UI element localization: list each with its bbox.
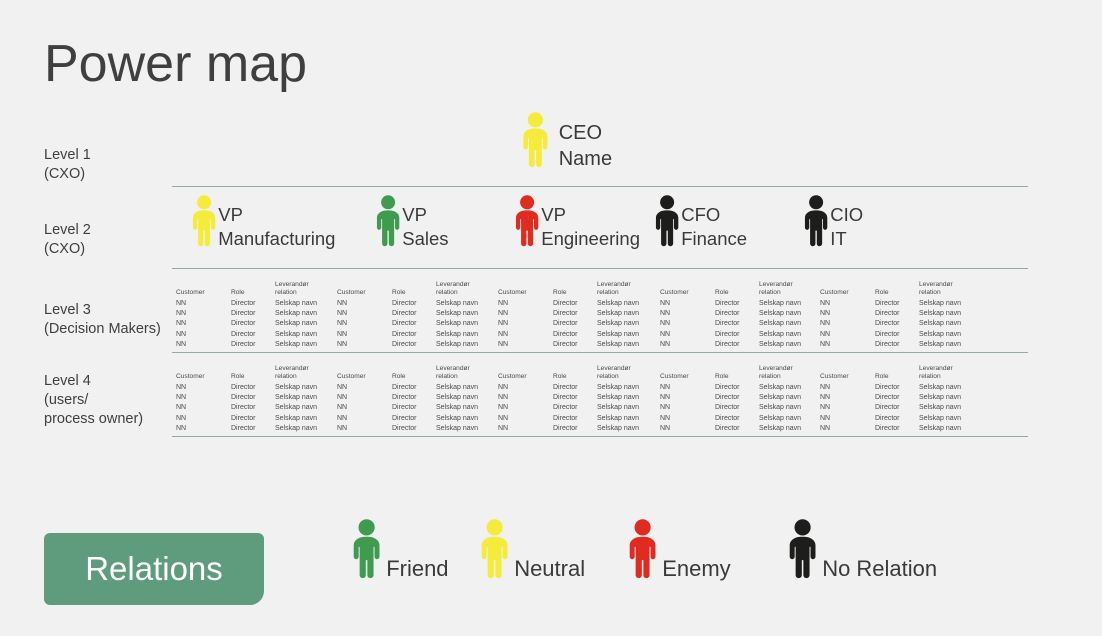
table-header-row: CustomerRoleLeverandør relation	[176, 361, 339, 381]
table-cell: NN	[337, 299, 392, 309]
table-cell: Selskap navn	[275, 330, 339, 340]
table-cell: NN	[660, 330, 715, 340]
table-cell: Selskap navn	[759, 424, 823, 434]
table-cell: NN	[176, 330, 231, 340]
table-row[interactable]: NNDirectorSelskap navn	[660, 330, 823, 340]
table-cell: Director	[231, 403, 275, 413]
table-cell: NN	[498, 383, 553, 393]
table-cell: NN	[498, 340, 553, 350]
table-row[interactable]: NNDirectorSelskap navn	[820, 403, 983, 413]
table-header-row: CustomerRoleLeverandør relation	[337, 361, 500, 381]
person-icon	[651, 195, 683, 252]
table-cell: Director	[553, 299, 597, 309]
table-cell: NN	[337, 424, 392, 434]
table-row[interactable]: NNDirectorSelskap navn	[660, 299, 823, 309]
table-cell: Selskap navn	[597, 299, 661, 309]
legend-item-enemy[interactable]: Enemy	[624, 519, 731, 584]
level-label-2: Level 2 (CXO)	[44, 221, 91, 259]
table-cell: Director	[715, 414, 759, 424]
table-cell: Selskap navn	[436, 403, 500, 413]
table-row[interactable]: NNDirectorSelskap navn	[176, 299, 339, 309]
table-cell: Director	[231, 319, 275, 329]
table-group-level-3-4: CustomerRoleLeverandør relationNNDirecto…	[660, 277, 823, 350]
table-row[interactable]: NNDirectorSelskap navn	[337, 330, 500, 340]
table-row[interactable]: NNDirectorSelskap navn	[176, 330, 339, 340]
table-cell: Selskap navn	[597, 403, 661, 413]
table-cell: NN	[498, 403, 553, 413]
power-map-slide: Power map Level 1 (CXO) Level 2 (CXO) Le…	[0, 0, 1102, 636]
table-cell: Selskap navn	[919, 424, 983, 434]
table-header-cell: Leverandør relation	[759, 365, 823, 381]
legend-item-no-relation[interactable]: No Relation	[784, 519, 937, 584]
table-row[interactable]: NNDirectorSelskap navn	[660, 309, 823, 319]
table-row[interactable]: NNDirectorSelskap navn	[337, 340, 500, 350]
divider-level-3	[172, 352, 1028, 353]
table-cell: NN	[820, 393, 875, 403]
table-cell: Selskap navn	[436, 414, 500, 424]
divider-level-2	[172, 268, 1028, 269]
table-header-cell: Customer	[176, 289, 231, 297]
table-cell: NN	[498, 330, 553, 340]
relations-box-label: Relations	[85, 551, 223, 587]
table-cell: NN	[820, 383, 875, 393]
table-header-row: CustomerRoleLeverandør relation	[820, 277, 983, 297]
person-icon	[784, 519, 821, 584]
table-cell: NN	[176, 383, 231, 393]
table-group-level-3-2: CustomerRoleLeverandør relationNNDirecto…	[337, 277, 500, 350]
table-cell: NN	[176, 319, 231, 329]
table-row[interactable]: NNDirectorSelskap navn	[337, 309, 500, 319]
table-row[interactable]: NNDirectorSelskap navn	[498, 403, 661, 413]
table-cell: Selskap navn	[919, 330, 983, 340]
table-row[interactable]: NNDirectorSelskap navn	[660, 414, 823, 424]
table-cell: NN	[660, 414, 715, 424]
table-group-level-4-1: CustomerRoleLeverandør relationNNDirecto…	[176, 361, 339, 434]
table-cell: NN	[498, 393, 553, 403]
table-row[interactable]: NNDirectorSelskap navn	[176, 309, 339, 319]
table-cell: Director	[231, 383, 275, 393]
table-cell: Director	[392, 414, 436, 424]
table-row[interactable]: NNDirectorSelskap navn	[498, 330, 661, 340]
node-vp-manufacturing[interactable]: VP Manufacturing	[188, 195, 335, 252]
legend-item-friend[interactable]: Friend	[348, 519, 449, 584]
table-row[interactable]: NNDirectorSelskap navn	[820, 299, 983, 309]
table-cell: Selskap navn	[919, 299, 983, 309]
table-header-cell: Leverandør relation	[275, 281, 339, 297]
table-cell: Selskap navn	[275, 309, 339, 319]
table-cell: Selskap navn	[436, 340, 500, 350]
table-header-cell: Customer	[660, 373, 715, 381]
table-row[interactable]: NNDirectorSelskap navn	[498, 340, 661, 350]
table-row[interactable]: NNDirectorSelskap navn	[660, 383, 823, 393]
table-row[interactable]: NNDirectorSelskap navn	[820, 340, 983, 350]
table-header-cell: Leverandør relation	[436, 365, 500, 381]
page-title: Power map	[44, 36, 307, 93]
table-row[interactable]: NNDirectorSelskap navn	[337, 319, 500, 329]
table-cell: Selskap navn	[597, 330, 661, 340]
table-cell: NN	[176, 403, 231, 413]
table-header-row: CustomerRoleLeverandør relation	[820, 361, 983, 381]
table-cell: NN	[660, 299, 715, 309]
table-row[interactable]: NNDirectorSelskap navn	[337, 424, 500, 434]
table-group-level-3-1: CustomerRoleLeverandør relationNNDirecto…	[176, 277, 339, 350]
table-group-level-4-4: CustomerRoleLeverandør relationNNDirecto…	[660, 361, 823, 434]
table-cell: NN	[660, 403, 715, 413]
table-cell: Selskap navn	[597, 319, 661, 329]
table-row[interactable]: NNDirectorSelskap navn	[176, 393, 339, 403]
table-header-cell: Leverandør relation	[275, 365, 339, 381]
table-cell: Selskap navn	[597, 424, 661, 434]
table-row[interactable]: NNDirectorSelskap navn	[660, 424, 823, 434]
table-cell: Director	[392, 393, 436, 403]
level-label-1: Level 1 (CXO)	[44, 146, 91, 184]
table-header-row: CustomerRoleLeverandør relation	[498, 361, 661, 381]
table-cell: NN	[176, 309, 231, 319]
person-icon	[511, 195, 543, 252]
table-cell: Selskap navn	[436, 319, 500, 329]
table-cell: Selskap navn	[436, 424, 500, 434]
table-cell: Selskap navn	[597, 383, 661, 393]
table-body: NNDirectorSelskap navnNNDirectorSelskap …	[176, 299, 339, 350]
table-header-cell: Role	[392, 373, 436, 381]
table-header-cell: Customer	[337, 373, 392, 381]
table-cell: Director	[875, 319, 919, 329]
table-cell: Selskap navn	[597, 414, 661, 424]
table-cell: Director	[715, 424, 759, 434]
table-cell: Director	[715, 383, 759, 393]
table-cell: NN	[660, 393, 715, 403]
person-icon	[476, 519, 513, 584]
table-row[interactable]: NNDirectorSelskap navn	[498, 319, 661, 329]
table-cell: NN	[498, 424, 553, 434]
table-row[interactable]: NNDirectorSelskap navn	[337, 403, 500, 413]
table-group-level-4-3: CustomerRoleLeverandør relationNNDirecto…	[498, 361, 661, 434]
table-header-cell: Leverandør relation	[759, 281, 823, 297]
table-row[interactable]: NNDirectorSelskap navn	[498, 309, 661, 319]
table-cell: Selskap navn	[919, 309, 983, 319]
node-cfo-finance-label: CFO Finance	[681, 203, 747, 252]
table-cell: Selskap navn	[919, 414, 983, 424]
table-cell: Selskap navn	[919, 403, 983, 413]
table-header-cell: Role	[715, 289, 759, 297]
table-body: NNDirectorSelskap navnNNDirectorSelskap …	[660, 299, 823, 350]
table-cell: Director	[392, 330, 436, 340]
table-cell: NN	[498, 319, 553, 329]
table-cell: Selskap navn	[759, 330, 823, 340]
table-row[interactable]: NNDirectorSelskap navn	[337, 299, 500, 309]
table-cell: NN	[820, 424, 875, 434]
legend-item-neutral-label: Neutral	[514, 556, 585, 584]
table-group-level-4-5: CustomerRoleLeverandør relationNNDirecto…	[820, 361, 983, 434]
table-body: NNDirectorSelskap navnNNDirectorSelskap …	[498, 383, 661, 434]
table-cell: NN	[337, 309, 392, 319]
node-cio-it[interactable]: CIO IT	[800, 195, 863, 252]
node-ceo[interactable]: CEO Name	[518, 112, 612, 173]
table-cell: Selskap navn	[275, 299, 339, 309]
table-row[interactable]: NNDirectorSelskap navn	[820, 393, 983, 403]
person-icon	[188, 195, 220, 252]
table-body: NNDirectorSelskap navnNNDirectorSelskap …	[820, 299, 983, 350]
table-cell: Director	[392, 319, 436, 329]
person-icon	[800, 195, 832, 252]
table-cell: Director	[231, 299, 275, 309]
table-cell: Selskap navn	[759, 393, 823, 403]
table-cell: Director	[715, 319, 759, 329]
table-cell: Director	[553, 330, 597, 340]
table-cell: NN	[337, 393, 392, 403]
table-cell: Selskap navn	[919, 383, 983, 393]
table-header-cell: Customer	[337, 289, 392, 297]
table-cell: Selskap navn	[275, 383, 339, 393]
table-cell: Director	[875, 424, 919, 434]
table-cell: Selskap navn	[759, 403, 823, 413]
table-cell: Selskap navn	[275, 403, 339, 413]
table-header-cell: Role	[553, 289, 597, 297]
table-cell: Director	[231, 330, 275, 340]
table-cell: Director	[392, 403, 436, 413]
table-cell: Selskap navn	[436, 309, 500, 319]
table-cell: Director	[715, 309, 759, 319]
node-vp-engineering[interactable]: VP Engineering	[511, 195, 640, 252]
table-cell: Selskap navn	[919, 319, 983, 329]
table-cell: NN	[820, 319, 875, 329]
table-cell: Director	[392, 340, 436, 350]
person-icon	[624, 519, 661, 584]
table-cell: Director	[715, 403, 759, 413]
table-cell: Director	[715, 393, 759, 403]
table-row[interactable]: NNDirectorSelskap navn	[660, 393, 823, 403]
table-cell: NN	[820, 299, 875, 309]
table-cell: NN	[498, 414, 553, 424]
table-cell: Director	[553, 340, 597, 350]
table-cell: Selskap navn	[275, 414, 339, 424]
node-ceo-label: CEO Name	[559, 120, 612, 173]
table-header-row: CustomerRoleLeverandør relation	[337, 277, 500, 297]
table-cell: Director	[553, 403, 597, 413]
table-cell: Selskap navn	[597, 340, 661, 350]
table-cell: Director	[553, 414, 597, 424]
table-cell: Director	[553, 309, 597, 319]
table-group-level-3-5: CustomerRoleLeverandør relationNNDirecto…	[820, 277, 983, 350]
node-cio-it-label: CIO IT	[830, 203, 863, 252]
table-cell: Director	[553, 383, 597, 393]
table-cell: Selskap navn	[759, 309, 823, 319]
table-header-cell: Customer	[498, 373, 553, 381]
table-cell: Director	[875, 340, 919, 350]
table-cell: NN	[176, 393, 231, 403]
table-row[interactable]: NNDirectorSelskap navn	[337, 414, 500, 424]
table-header-cell: Role	[231, 289, 275, 297]
table-row[interactable]: NNDirectorSelskap navn	[820, 414, 983, 424]
table-cell: Director	[392, 299, 436, 309]
table-body: NNDirectorSelskap navnNNDirectorSelskap …	[337, 383, 500, 434]
table-row[interactable]: NNDirectorSelskap navn	[660, 403, 823, 413]
table-cell: Director	[392, 424, 436, 434]
table-cell: Selskap navn	[436, 330, 500, 340]
table-cell: NN	[660, 383, 715, 393]
table-row[interactable]: NNDirectorSelskap navn	[176, 383, 339, 393]
table-cell: Selskap navn	[597, 309, 661, 319]
table-cell: Selskap navn	[759, 319, 823, 329]
table-header-cell: Customer	[498, 289, 553, 297]
table-cell: Director	[553, 424, 597, 434]
person-icon	[518, 112, 553, 173]
table-body: NNDirectorSelskap navnNNDirectorSelskap …	[820, 383, 983, 434]
table-header-cell: Leverandør relation	[919, 281, 983, 297]
table-cell: NN	[337, 414, 392, 424]
table-cell: NN	[820, 340, 875, 350]
table-cell: Director	[392, 309, 436, 319]
table-cell: Selskap navn	[759, 414, 823, 424]
table-header-row: CustomerRoleLeverandør relation	[498, 277, 661, 297]
table-header-row: CustomerRoleLeverandør relation	[660, 277, 823, 297]
table-cell: NN	[660, 424, 715, 434]
table-cell: NN	[176, 414, 231, 424]
table-cell: NN	[820, 309, 875, 319]
table-cell: Selskap navn	[436, 383, 500, 393]
table-cell: NN	[337, 403, 392, 413]
table-cell: Selskap navn	[759, 340, 823, 350]
table-cell: Selskap navn	[919, 340, 983, 350]
table-cell: Director	[231, 393, 275, 403]
table-cell: Director	[875, 309, 919, 319]
table-cell: NN	[660, 340, 715, 350]
table-cell: Selskap navn	[759, 299, 823, 309]
table-cell: Selskap navn	[436, 393, 500, 403]
table-body: NNDirectorSelskap navnNNDirectorSelskap …	[337, 299, 500, 350]
table-cell: Selskap navn	[275, 424, 339, 434]
table-cell: Director	[231, 340, 275, 350]
table-body: NNDirectorSelskap navnNNDirectorSelskap …	[660, 383, 823, 434]
table-cell: NN	[498, 299, 553, 309]
table-header-cell: Role	[392, 289, 436, 297]
table-cell: NN	[660, 309, 715, 319]
table-cell: NN	[176, 299, 231, 309]
table-row[interactable]: NNDirectorSelskap navn	[176, 340, 339, 350]
person-icon	[372, 195, 404, 252]
table-cell: Director	[392, 383, 436, 393]
table-cell: Director	[875, 403, 919, 413]
node-vp-manufacturing-label: VP Manufacturing	[218, 203, 335, 252]
table-cell: Director	[715, 340, 759, 350]
table-cell: NN	[820, 414, 875, 424]
legend-item-neutral[interactable]: Neutral	[476, 519, 585, 584]
table-cell: Selskap navn	[275, 393, 339, 403]
table-cell: NN	[498, 309, 553, 319]
table-group-level-3-3: CustomerRoleLeverandør relationNNDirecto…	[498, 277, 661, 350]
table-row[interactable]: NNDirectorSelskap navn	[660, 319, 823, 329]
table-cell: Selskap navn	[759, 383, 823, 393]
table-cell: NN	[337, 319, 392, 329]
table-header-cell: Customer	[176, 373, 231, 381]
relations-box: Relations	[44, 533, 264, 605]
table-cell: Selskap navn	[275, 319, 339, 329]
legend-item-no-relation-label: No Relation	[822, 556, 937, 584]
table-cell: Director	[875, 393, 919, 403]
table-row[interactable]: NNDirectorSelskap navn	[176, 414, 339, 424]
table-cell: Director	[875, 299, 919, 309]
table-row[interactable]: NNDirectorSelskap navn	[498, 393, 661, 403]
divider-level-1	[172, 186, 1028, 187]
table-row[interactable]: NNDirectorSelskap navn	[337, 393, 500, 403]
table-header-row: CustomerRoleLeverandør relation	[660, 361, 823, 381]
table-row[interactable]: NNDirectorSelskap navn	[820, 330, 983, 340]
table-cell: NN	[337, 383, 392, 393]
table-row[interactable]: NNDirectorSelskap navn	[820, 424, 983, 434]
table-row[interactable]: NNDirectorSelskap navn	[176, 424, 339, 434]
table-cell: Selskap navn	[436, 299, 500, 309]
table-cell: Director	[875, 414, 919, 424]
table-header-cell: Role	[875, 373, 919, 381]
level-label-3: Level 3 (Decision Makers)	[44, 301, 161, 339]
table-row[interactable]: NNDirectorSelskap navn	[498, 299, 661, 309]
table-cell: NN	[820, 330, 875, 340]
node-vp-engineering-label: VP Engineering	[541, 203, 640, 252]
table-cell: Selskap navn	[597, 393, 661, 403]
table-body: NNDirectorSelskap navnNNDirectorSelskap …	[176, 383, 339, 434]
table-cell: Selskap navn	[919, 393, 983, 403]
divider-level-4	[172, 436, 1028, 437]
legend-item-friend-label: Friend	[386, 556, 448, 584]
table-header-cell: Role	[553, 373, 597, 381]
table-row[interactable]: NNDirectorSelskap navn	[660, 340, 823, 350]
table-header-cell: Role	[875, 289, 919, 297]
table-cell: Director	[553, 319, 597, 329]
table-header-cell: Leverandør relation	[919, 365, 983, 381]
table-cell: NN	[337, 330, 392, 340]
table-header-cell: Leverandør relation	[436, 281, 500, 297]
table-header-cell: Customer	[820, 373, 875, 381]
table-cell: Director	[231, 414, 275, 424]
table-header-cell: Leverandør relation	[597, 365, 661, 381]
legend-item-enemy-label: Enemy	[662, 556, 730, 584]
table-cell: NN	[176, 424, 231, 434]
table-cell: Director	[715, 330, 759, 340]
table-cell: Selskap navn	[275, 340, 339, 350]
table-row[interactable]: NNDirectorSelskap navn	[337, 383, 500, 393]
table-cell: NN	[660, 319, 715, 329]
person-icon	[348, 519, 385, 584]
table-cell: NN	[337, 340, 392, 350]
table-body: NNDirectorSelskap navnNNDirectorSelskap …	[498, 299, 661, 350]
table-row[interactable]: NNDirectorSelskap navn	[498, 383, 661, 393]
table-cell: NN	[820, 403, 875, 413]
node-vp-sales-label: VP Sales	[402, 203, 448, 252]
table-cell: Director	[875, 383, 919, 393]
table-row[interactable]: NNDirectorSelskap navn	[498, 414, 661, 424]
table-header-cell: Customer	[820, 289, 875, 297]
table-row[interactable]: NNDirectorSelskap navn	[820, 383, 983, 393]
table-row[interactable]: NNDirectorSelskap navn	[820, 319, 983, 329]
node-vp-sales[interactable]: VP Sales	[372, 195, 449, 252]
table-cell: Director	[553, 393, 597, 403]
table-cell: Director	[875, 330, 919, 340]
table-row[interactable]: NNDirectorSelskap navn	[498, 424, 661, 434]
table-header-cell: Role	[231, 373, 275, 381]
table-row[interactable]: NNDirectorSelskap navn	[176, 403, 339, 413]
table-cell: NN	[176, 340, 231, 350]
table-header-cell: Role	[715, 373, 759, 381]
table-row[interactable]: NNDirectorSelskap navn	[176, 319, 339, 329]
table-cell: Director	[231, 424, 275, 434]
node-cfo-finance[interactable]: CFO Finance	[651, 195, 747, 252]
table-group-level-4-2: CustomerRoleLeverandør relationNNDirecto…	[337, 361, 500, 434]
level-label-4: Level 4 (users/ process owner)	[44, 372, 143, 429]
table-header-row: CustomerRoleLeverandør relation	[176, 277, 339, 297]
table-cell: Director	[231, 309, 275, 319]
table-row[interactable]: NNDirectorSelskap navn	[820, 309, 983, 319]
table-cell: Director	[715, 299, 759, 309]
